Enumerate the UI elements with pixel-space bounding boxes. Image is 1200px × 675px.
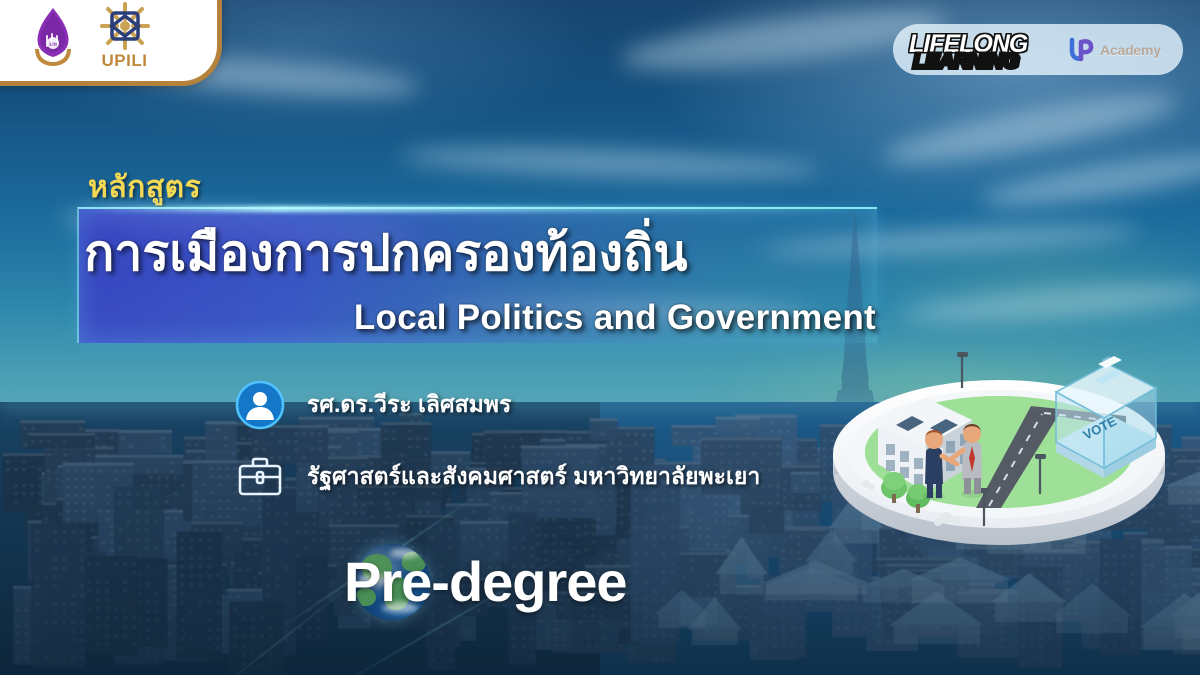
program-label-text: Pre-degree (344, 546, 627, 618)
svg-text:มพ: มพ (49, 41, 57, 48)
brand-logo-panel: มพ UPILI (0, 0, 222, 86)
person-icon (233, 378, 287, 432)
faculty-row: รัฐศาสตร์และสังคมศาสตร์ มหาวิทยาลัยพะเยา (233, 448, 760, 506)
upili-logo: UPILI (98, 1, 152, 69)
briefcase-icon (233, 450, 287, 504)
banner-canvas: มพ UPILI (0, 0, 1200, 675)
up-academy-logo: Academy (1067, 35, 1161, 65)
lifelong-logo: LIFELONG LEARNING (909, 30, 1057, 70)
upili-label: UPILI (102, 52, 148, 69)
upili-mark-icon (98, 1, 152, 51)
instructor-name: รศ.ดร.วีระ เลิศสมพร (307, 387, 511, 423)
faculty-name: รัฐศาสตร์และสังคมศาสตร์ มหาวิทยาลัยพะเยา (307, 459, 760, 495)
course-meta: รศ.ดร.วีระ เลิศสมพร รัฐศาสตร์และสังคมศาส… (233, 376, 760, 506)
university-of-phayao-seal-icon: มพ (26, 5, 80, 69)
instructor-row: รศ.ดร.วีระ เลิศสมพร (233, 376, 760, 434)
academy-label: Academy (1100, 42, 1161, 58)
isometric-local-government-scene: VOTE (826, 336, 1172, 556)
university-seal: มพ (26, 5, 80, 69)
program-label: Pre-degree (344, 546, 627, 618)
course-kicker: หลักสูตร (88, 164, 201, 211)
lifelong-learning-badge[interactable]: LIFELONG LEARNING Academy (893, 24, 1183, 75)
course-title-thai: การเมืองการปกครองท้องถิ่น (84, 225, 874, 281)
course-title-english: Local Politics and Government (84, 298, 876, 338)
lifelong-line2: LEARNING (913, 51, 1019, 72)
up-mark-icon (1067, 35, 1097, 65)
